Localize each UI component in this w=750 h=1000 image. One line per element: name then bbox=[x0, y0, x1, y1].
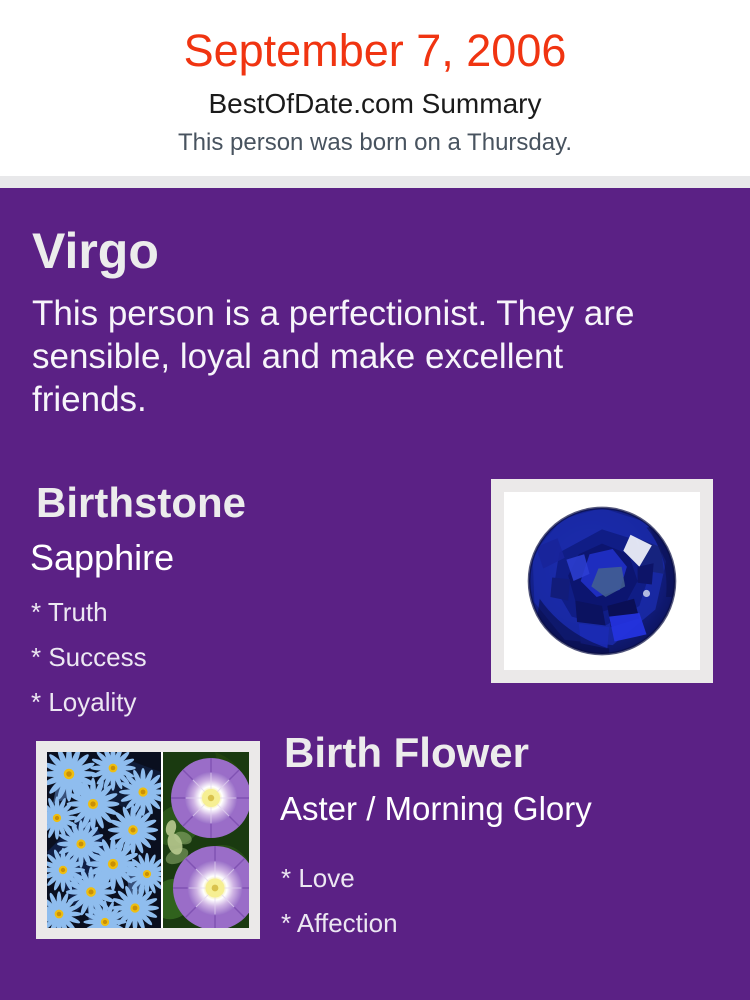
page-title: September 7, 2006 bbox=[0, 22, 750, 80]
birthstone-name: Sapphire bbox=[30, 536, 174, 580]
aster-photo-half bbox=[47, 752, 161, 928]
birth-flower-name: Aster / Morning Glory bbox=[280, 788, 592, 830]
site-summary-label: BestOfDate.com Summary bbox=[0, 87, 750, 121]
birthstone-heading: Birthstone bbox=[36, 478, 246, 528]
aster-flowers-illustration bbox=[47, 752, 161, 928]
summary-panel: Virgo This person is a perfectionist. Th… bbox=[0, 188, 750, 1000]
morning-glory-photo-half bbox=[163, 752, 249, 928]
zodiac-description: This person is a perfectionist. They are… bbox=[32, 292, 672, 421]
birthstone-trait-list: * Truth * Success * Loyality bbox=[31, 590, 331, 725]
zodiac-sign-name: Virgo bbox=[32, 222, 159, 280]
sapphire-gem-photo bbox=[504, 492, 700, 670]
page-header: September 7, 2006 BestOfDate.com Summary… bbox=[0, 0, 750, 176]
birth-flower-trait-list: * Love * Affection bbox=[281, 856, 581, 946]
sapphire-gem-illustration bbox=[504, 492, 700, 670]
list-item: * Truth bbox=[31, 590, 331, 635]
list-item: * Affection bbox=[281, 901, 581, 946]
list-item: * Success bbox=[31, 635, 331, 680]
birthstone-photo-frame bbox=[491, 479, 713, 683]
morning-glory-illustration bbox=[163, 752, 249, 928]
list-item: * Loyality bbox=[31, 680, 331, 725]
header-divider bbox=[0, 176, 750, 188]
birth-flower-photo-frame bbox=[36, 741, 260, 939]
list-item: * Love bbox=[281, 856, 581, 901]
weekday-statement: This person was born on a Thursday. bbox=[0, 128, 750, 158]
birth-flower-heading: Birth Flower bbox=[284, 728, 529, 778]
aster-morning-glory-photo bbox=[47, 752, 249, 928]
